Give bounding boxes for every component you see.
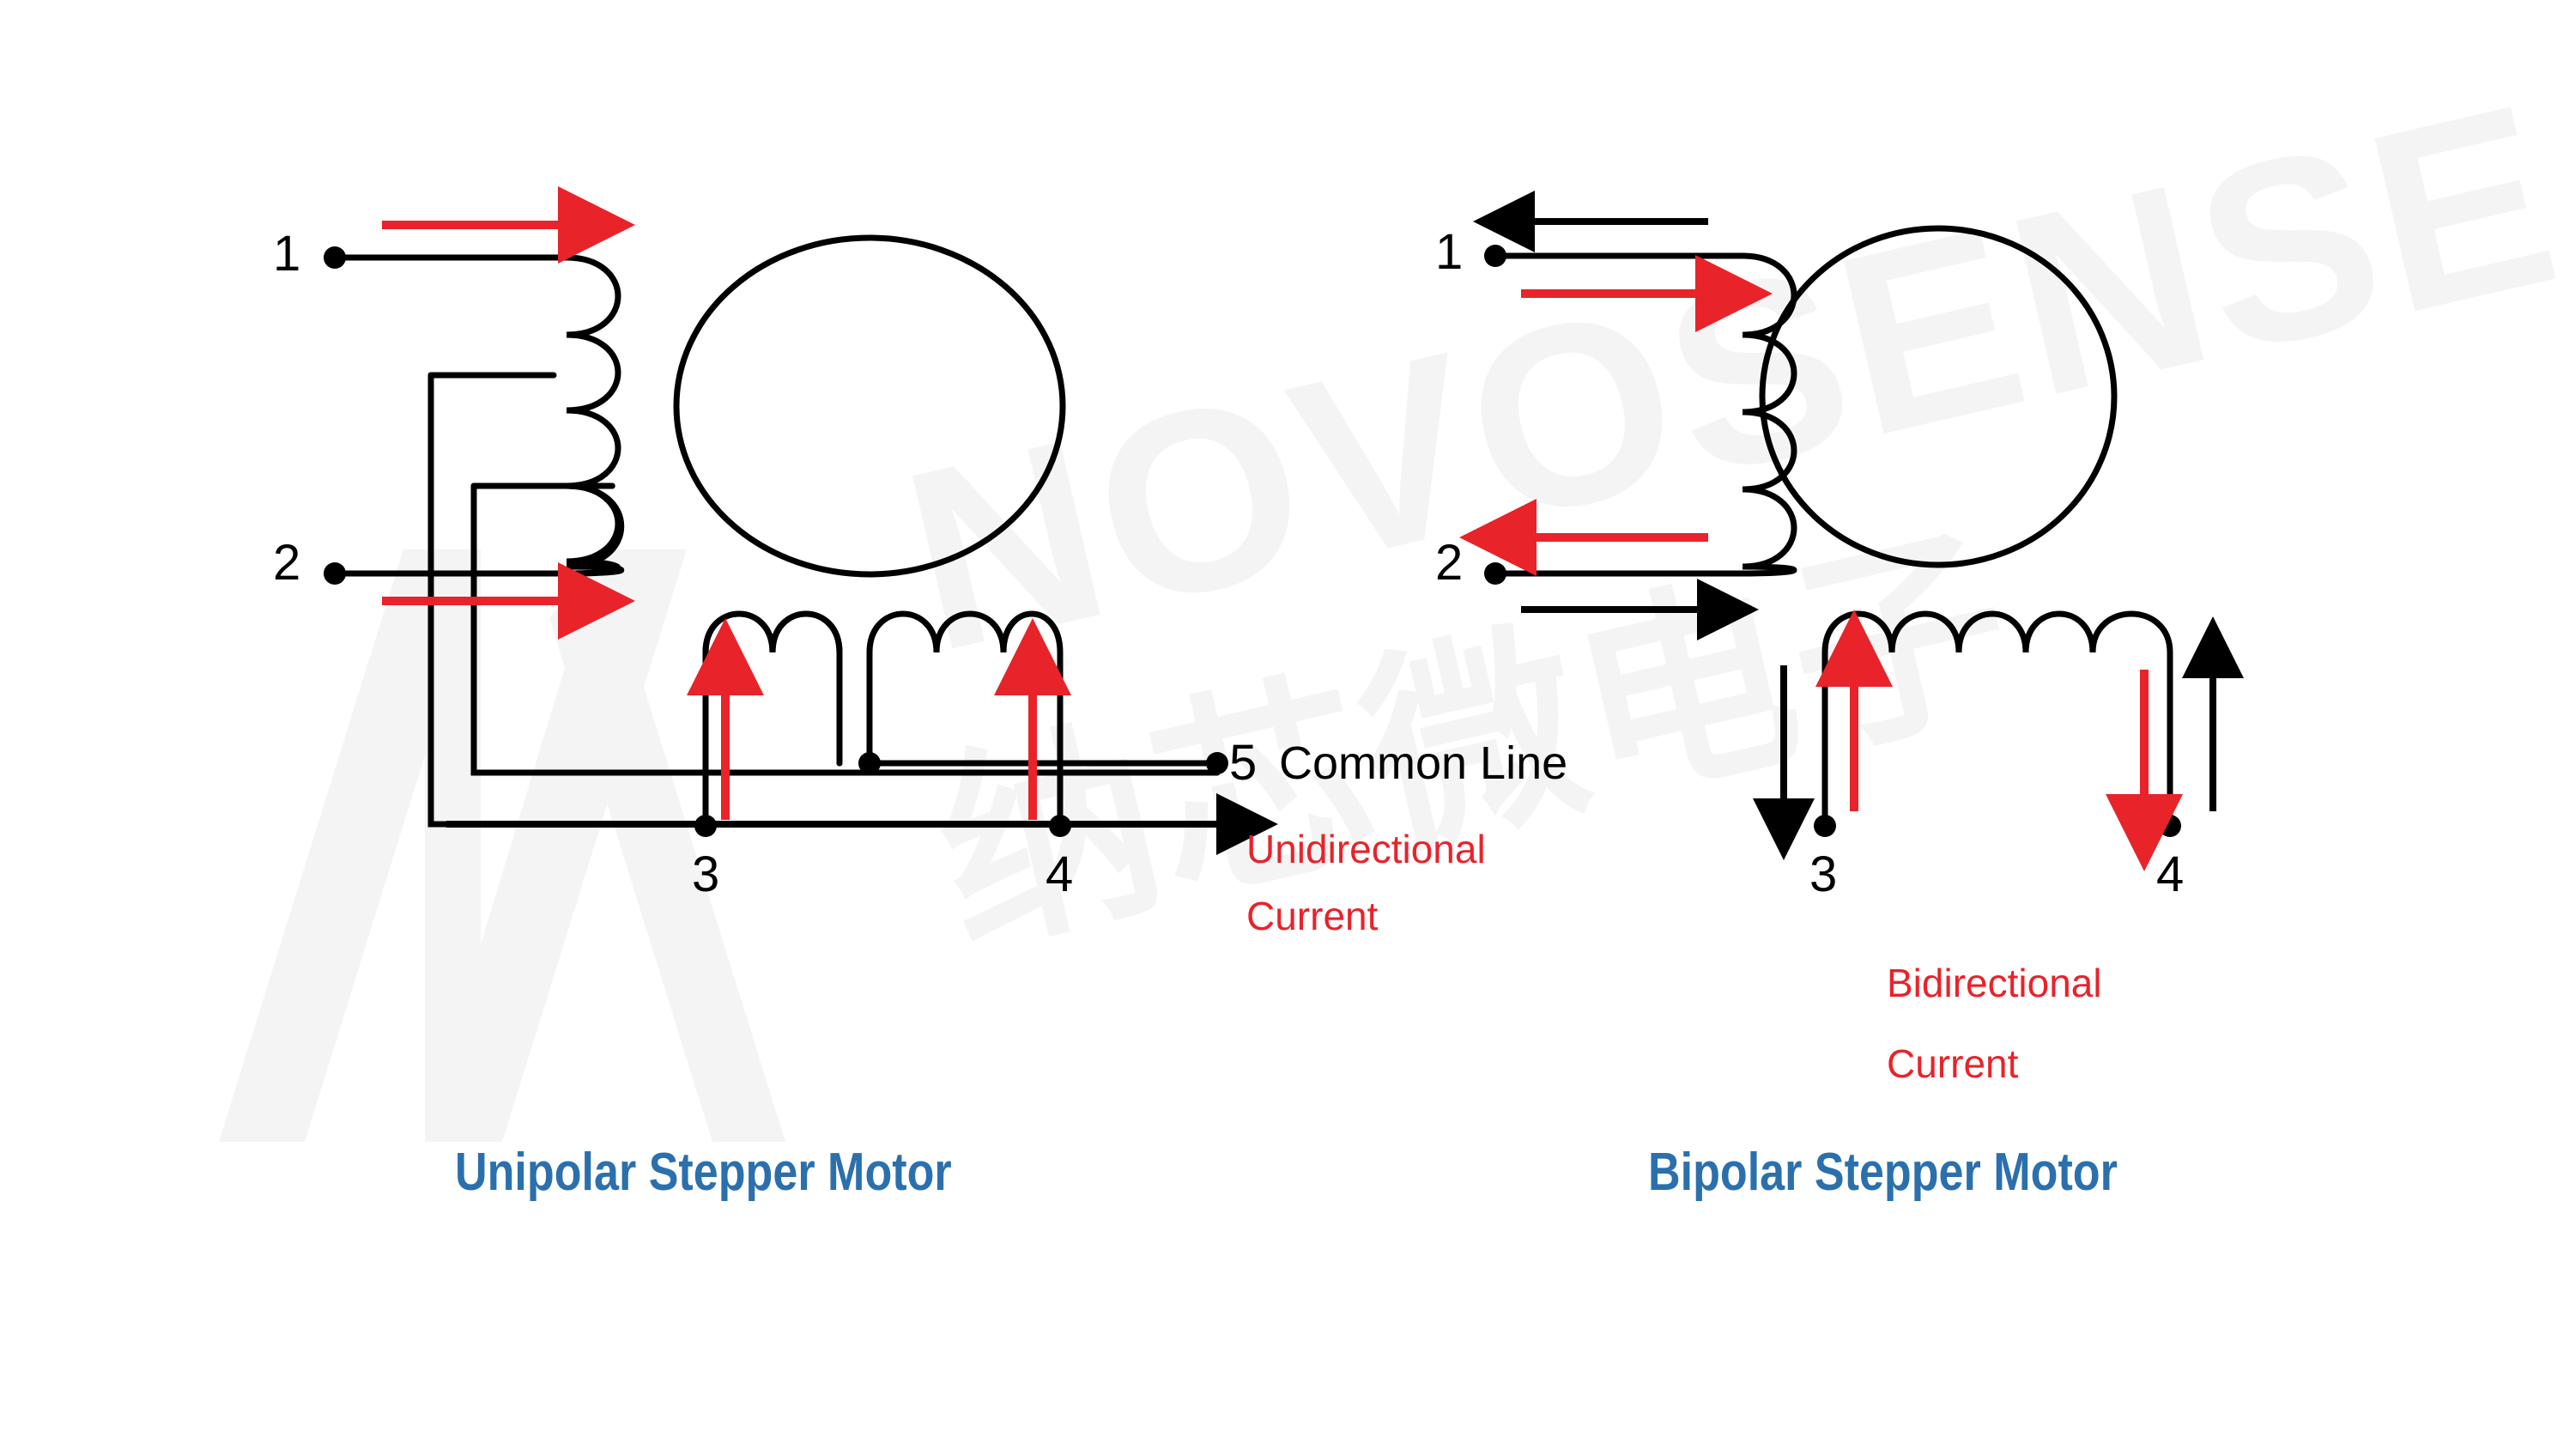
bipolar-terminal-label-2: 2 — [1435, 534, 1463, 592]
bipolar-title: Bipolar Stepper Motor — [1648, 1142, 2118, 1203]
bipolar-rotor-circle — [1762, 228, 2114, 565]
bidirectional-current-label-line1: Bidirectional — [1887, 960, 2102, 1006]
common-line-label: Common Line — [1279, 737, 1567, 790]
diagram-canvas: NOVOSENSE 纳芯微电子 — [0, 0, 2576, 1450]
unipolar-terminal-label-1: 1 — [273, 225, 300, 282]
unipolar-terminal-label-5: 5 — [1229, 734, 1257, 792]
bipolar-terminal-label-4: 4 — [2156, 846, 2184, 903]
bipolar-terminal-label-1: 1 — [1435, 223, 1463, 281]
unidirectional-current-label-line2: Current — [1246, 893, 1378, 939]
unipolar-terminal-label-3: 3 — [692, 846, 719, 903]
bipolar-terminal-label-3: 3 — [1809, 846, 1837, 903]
bipolar-red-arrows — [1521, 294, 2144, 811]
unipolar-junction-dots — [858, 752, 881, 774]
unipolar-tap-wire-b — [474, 486, 1217, 773]
bidirectional-current-label-line2: Current — [1887, 1040, 2018, 1087]
unipolar-terminal-label-2: 2 — [273, 534, 300, 592]
unipolar-rotor-circle — [676, 238, 1063, 574]
unipolar-terminal-dots — [324, 246, 1228, 837]
bipolar-coil-h — [1825, 614, 2170, 763]
unidirectional-current-label-line1: Unidirectional — [1246, 826, 1486, 872]
unipolar-title: Unipolar Stepper Motor — [455, 1142, 952, 1203]
unipolar-coil-v-upper — [567, 258, 618, 486]
bipolar-black-arrows — [1521, 221, 2213, 811]
circuit-layer — [0, 0, 2576, 1450]
unipolar-terminal-label-4: 4 — [1046, 846, 1073, 903]
bipolar-coil-v — [1743, 256, 1794, 573]
unipolar-coil-h — [706, 614, 1060, 763]
